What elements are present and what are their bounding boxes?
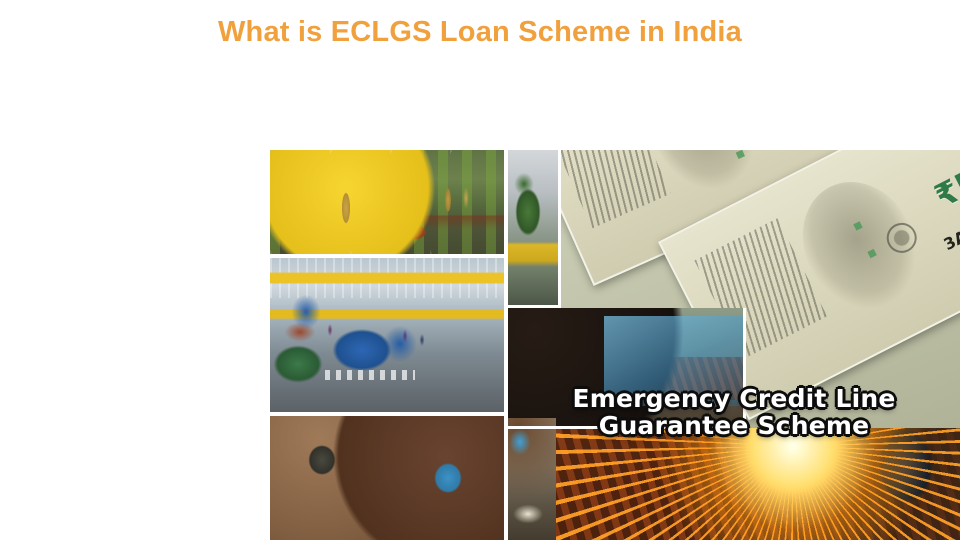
collage-photo-sparks-left	[508, 418, 556, 540]
collage-divider	[270, 254, 504, 258]
collage-photo-sparks	[508, 428, 960, 540]
collage-photo-factory-green	[270, 150, 504, 254]
slide-canvas: What is ECLGS Loan Scheme in India	[0, 0, 960, 540]
collage-divider	[270, 412, 504, 416]
crane-hall-artwork	[270, 258, 504, 412]
page-title: What is ECLGS Loan Scheme in India	[0, 16, 960, 49]
sparks-left-artwork	[508, 418, 556, 540]
banknote-microprint	[551, 150, 671, 229]
collage-photo-machine-inset	[508, 150, 560, 308]
collage-photo-artisans	[270, 416, 504, 540]
workshop-artwork	[508, 308, 746, 428]
banknote-denomination: ₹500	[928, 150, 960, 215]
collage-divider	[508, 426, 746, 429]
collage-divider	[508, 305, 560, 308]
collage-divider	[558, 150, 561, 308]
collage-divider	[743, 308, 746, 428]
sparks-artwork	[508, 428, 960, 540]
banknote-serial-prefix: 3AK	[940, 220, 960, 253]
collage-divider	[504, 150, 508, 540]
collage-photo-workshop	[508, 308, 746, 428]
machine-inset-artwork	[508, 150, 560, 308]
image-collage: ₹500 532442 ₹500 3AK 532442	[270, 150, 960, 540]
collage-photo-crane-hall	[270, 258, 504, 412]
artisans-artwork	[270, 416, 504, 540]
factory-green-artwork	[270, 150, 504, 254]
